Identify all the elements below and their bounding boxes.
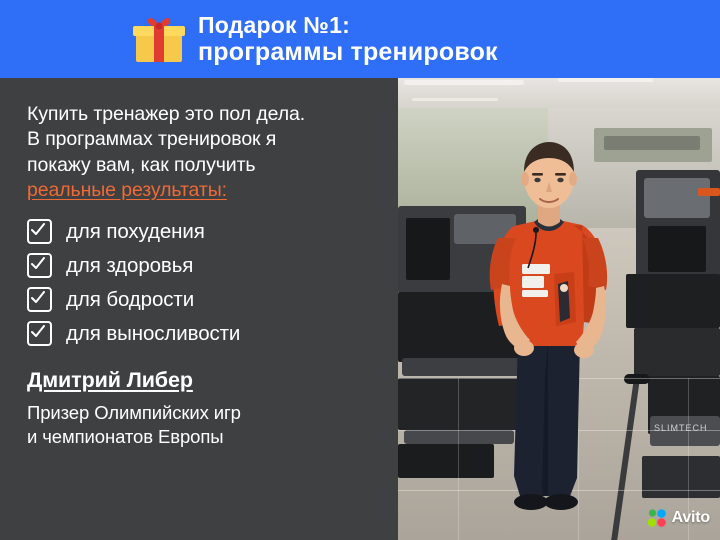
intro-line-1: Купить тренажер это пол дела. (27, 102, 380, 127)
intro-line-2: В программах тренировок я (27, 127, 380, 152)
avito-brand-text: Avito (672, 509, 710, 527)
checkbox-checked-icon (27, 287, 52, 312)
signature-role-line2: и чемпионатов Европы (27, 425, 380, 449)
gym-photo: SLIMTECH Avito (398, 78, 720, 540)
checkbox-checked-icon (27, 321, 52, 346)
header-banner: Подарок №1: программы тренировок (0, 0, 720, 78)
signature-block: Дмитрий Либер Призер Олимпийских игр и ч… (27, 368, 380, 449)
gift-icon (133, 14, 185, 64)
left-content-panel: Купить тренажер это пол дела. В программ… (0, 78, 398, 540)
list-item-label: для здоровья (66, 254, 193, 278)
promo-banner: Подарок №1: программы тренировок Купить … (0, 0, 720, 540)
list-item: для здоровья (27, 253, 380, 278)
signature-name: Дмитрий Либер (27, 368, 380, 393)
benefits-list: для похудения для здоровья для бодрости … (27, 219, 380, 346)
avito-watermark: Avito (647, 508, 710, 528)
list-item: для похудения (27, 219, 380, 244)
list-item: для бодрости (27, 287, 380, 312)
intro-paragraph: Купить тренажер это пол дела. В программ… (27, 102, 380, 203)
header-title-line1: Подарок №1: (198, 12, 498, 38)
list-item-label: для похудения (66, 220, 205, 244)
checkbox-checked-icon (27, 253, 52, 278)
list-item: для выносливости (27, 321, 380, 346)
checkbox-checked-icon (27, 219, 52, 244)
header-title-line2: программы тренировок (198, 38, 498, 67)
intro-line-3: покажу вам, как получить (27, 153, 380, 178)
machine-brand-label: SLIMTECH (654, 423, 708, 433)
list-item-label: для выносливости (66, 322, 240, 346)
signature-role-line1: Призер Олимпийских игр (27, 401, 380, 425)
signature-role: Призер Олимпийских игр и чемпионатов Евр… (27, 401, 380, 449)
intro-accent-line: реальные результаты: (27, 178, 380, 203)
avito-dots-icon (647, 508, 667, 528)
list-item-label: для бодрости (66, 288, 194, 312)
person-photo (398, 78, 720, 540)
header-text: Подарок №1: программы тренировок (198, 12, 498, 67)
